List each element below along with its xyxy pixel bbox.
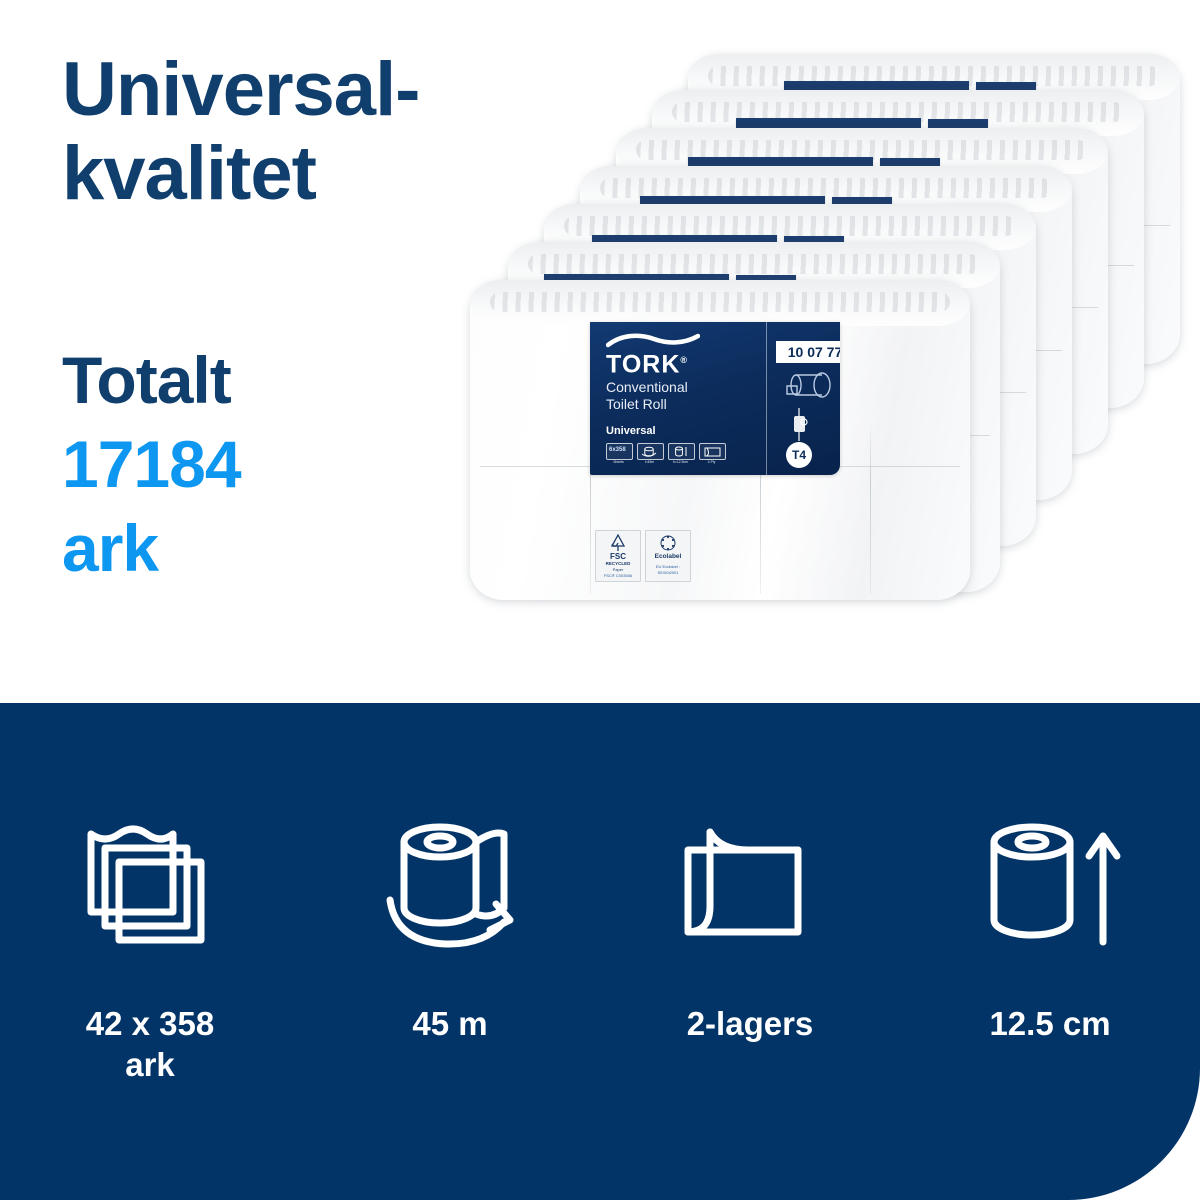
spec-chip-sheets-value: 6x358 [609,447,626,453]
feature-panel: 42 x 358 ark 45 m [0,703,1200,1200]
fsc-tree-icon [608,534,628,552]
feature-ply-label: 2-lagers [687,1003,814,1044]
totals-block: Totalt 17184 ark [62,338,492,590]
hanging-roll-icon [790,408,816,442]
feature-length-label: 45 m [412,1003,487,1044]
feature-sheets: 42 x 358 ark [0,811,300,1141]
product-quality-label: Universal [606,425,656,438]
pack-top-rolls [470,280,970,326]
product-label: TORK® Conventional Toilet Roll Universal… [590,322,840,475]
tork-wordmark: TORK® [606,348,688,377]
article-number: 10 07 77 [788,344,840,360]
spec-chip-width [668,443,695,460]
two-ply-sheet-icon [670,811,830,971]
fsc-label: FSC [596,552,640,561]
spec-chip-length-caption: l=45m [637,460,662,464]
fsc-paper-text: Paper [596,567,640,572]
fsc-code-text: FSC® C003506 [596,573,640,578]
feature-width: 12.5 cm [900,811,1200,1141]
eu-ecolabel-logo: Ecolabel EU Ecolabel : SE/004/001 [645,530,691,582]
totals-count: 17184 [62,422,492,506]
dispenser-icon [782,372,834,410]
feature-width-label: 12.5 cm [989,1003,1110,1044]
roll-length-icon [638,444,663,459]
article-number-box: 10 07 77 [776,341,840,363]
ecolabel-registration-line-1: EU Ecolabel : [646,564,690,569]
roll-length-arrow-icon [370,811,530,971]
system-badge-text: T4 [792,448,806,462]
spec-chip-ply-caption: 2-Ply [699,460,724,464]
roll-width-arrow-icon [970,811,1130,971]
roll-width-icon [669,444,694,459]
tork-registered-mark: ® [680,355,688,365]
fsc-recycled-text: RECYCLED [596,561,640,566]
product-pack-front: TORK® Conventional Toilet Roll Universal… [470,280,970,600]
tork-swoosh-icon [606,332,700,349]
feature-row: 42 x 358 ark 45 m [0,811,1200,1141]
spec-chip-length [637,443,664,460]
totals-unit: ark [62,506,492,590]
spec-chip-sheets-caption: Sheets [606,460,631,464]
ply-icon [700,444,725,459]
feature-length: 45 m [300,811,600,1141]
headline-line-1: Universal- [62,48,482,132]
pack-seam [870,421,871,594]
product-pack-stack: TORK® Conventional Toilet Roll Universal… [470,48,1200,648]
totals-label: Totalt [62,338,492,422]
fsc-recycled-logo: FSC RECYCLED Paper FSC® C003506 [595,530,641,582]
sheets-stack-icon [75,811,225,971]
ecolabel-label: Ecolabel [646,553,690,560]
headline-line-2: kvalitet [62,132,482,216]
headline: Universal- kvalitet [62,48,482,216]
product-type-line-1: Conventional [606,379,688,396]
certification-logos: FSC RECYCLED Paper FSC® C003506 [595,530,709,585]
spec-chip-ply [699,443,726,460]
feature-sheets-label: 42 x 358 ark [86,1003,214,1085]
eu-flower-icon [658,534,678,552]
top-hero-section: Universal- kvalitet Totalt 17184 ark [0,0,1200,703]
product-type-line-2: Toilet Roll [606,396,667,413]
system-badge: T4 [786,442,812,468]
spec-chip-sheets: 6x358 [606,443,633,460]
feature-ply: 2-lagers [600,811,900,1141]
spec-chip-width-caption: b=12.5cm [668,460,693,464]
ecolabel-registration-line-2: SE/004/001 [646,570,690,575]
label-divider [766,322,767,475]
tork-brand-text: TORK [606,350,680,378]
